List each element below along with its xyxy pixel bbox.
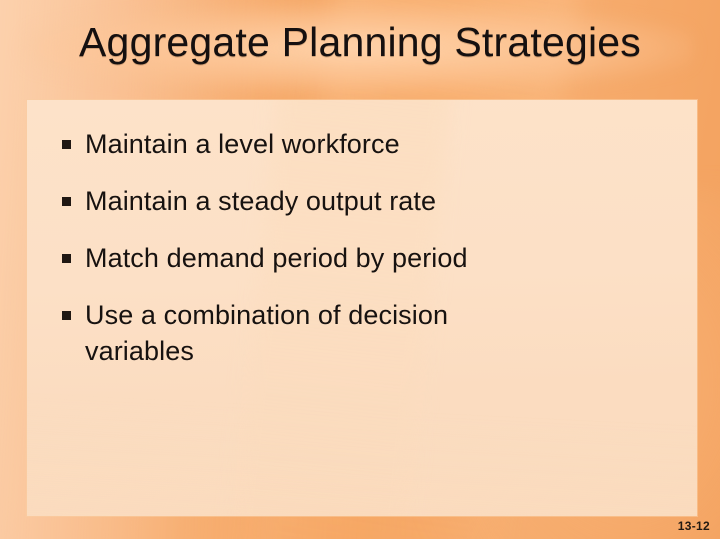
presentation-slide: Aggregate Planning Strategies Maintain a… (0, 0, 720, 539)
content-panel: Maintain a level workforce Maintain a st… (27, 100, 697, 516)
square-bullet-icon (62, 254, 71, 263)
list-item-label: Match demand period by period (85, 240, 468, 276)
slide-number: 13-12 (678, 519, 710, 533)
square-bullet-icon (62, 311, 71, 320)
list-item: Maintain a steady output rate (27, 183, 697, 219)
slide-title: Aggregate Planning Strategies (0, 17, 720, 67)
bullet-list: Maintain a level workforce Maintain a st… (27, 100, 697, 390)
list-item-label: Maintain a level workforce (85, 126, 400, 162)
list-item: Match demand period by period (27, 240, 697, 276)
list-item: Maintain a level workforce (27, 126, 697, 162)
list-item-label: Use a combination of decision variables (85, 297, 555, 369)
square-bullet-icon (62, 197, 71, 206)
square-bullet-icon (62, 140, 71, 149)
list-item-label: Maintain a steady output rate (85, 183, 436, 219)
list-item: Use a combination of decision variables (27, 297, 697, 369)
